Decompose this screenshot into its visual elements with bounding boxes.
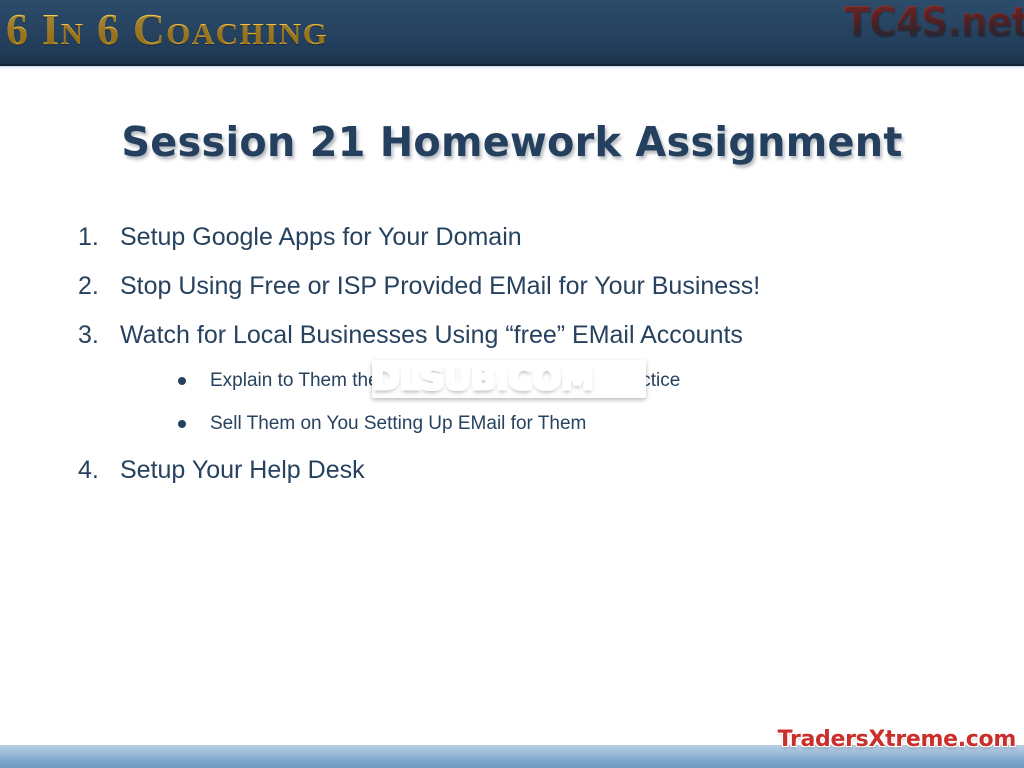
slide-canvas: 6 In 6 Coaching TC4S.net Session 21 Home…	[0, 0, 1024, 768]
list-item-label: Stop Using Free or ISP Provided EMail fo…	[120, 269, 760, 303]
header-underline-divider	[0, 66, 1024, 69]
footer-brand-logo: TradersXtreme.com	[778, 727, 1016, 752]
header-banner: 6 In 6 Coaching TC4S.net	[0, 0, 1024, 66]
list-item: 4. Setup Your Help Desk	[0, 453, 1024, 502]
list-item-number: 1.	[78, 220, 112, 254]
list-item-label: Setup Google Apps for Your Domain	[120, 220, 522, 254]
list-item-number: 4.	[78, 453, 112, 487]
list-item: 2. Stop Using Free or ISP Provided EMail…	[0, 269, 1024, 318]
sub-list-item-label: Sell Them on You Setting Up EMail for Th…	[210, 413, 586, 434]
brand-title: 6 In 6 Coaching	[6, 4, 328, 55]
list-item-number: 3.	[78, 318, 112, 352]
list-item-label: Setup Your Help Desk	[120, 453, 365, 487]
watermark-backplate	[372, 360, 646, 398]
sub-list-item: Sell Them on You Setting Up EMail for Th…	[0, 410, 1024, 453]
brand-site-logo: TC4S.net	[844, 0, 1024, 46]
bullet-dot-icon	[178, 420, 186, 428]
bullet-dot-icon	[178, 377, 186, 385]
list-item-number: 2.	[78, 269, 112, 303]
page-title: Session 21 Homework Assignment	[15, 118, 1008, 166]
list-item: 1. Setup Google Apps for Your Domain	[0, 220, 1024, 269]
list-item-label: Watch for Local Businesses Using “free” …	[120, 318, 743, 352]
